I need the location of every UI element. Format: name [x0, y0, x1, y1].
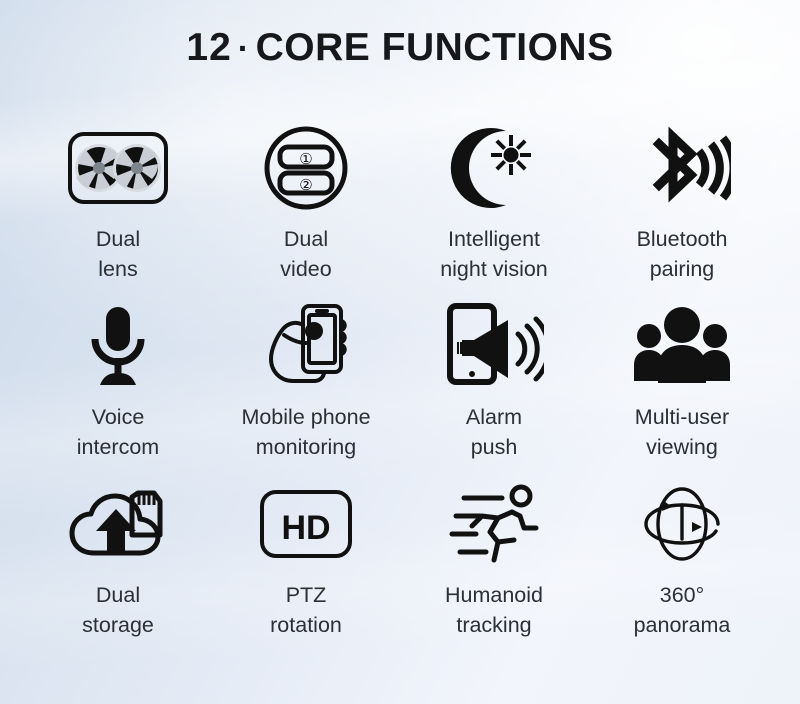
- feature-count: 12: [186, 26, 231, 69]
- feature-item-dual-lens: Dual lens: [24, 122, 212, 300]
- alarm-push-icon: [400, 300, 588, 392]
- feature-label: Dual storage: [82, 580, 154, 640]
- cloud-sd-storage-icon: [24, 478, 212, 570]
- feature-label: Voice intercom: [77, 402, 159, 462]
- feature-label: Dual video: [280, 224, 331, 284]
- multi-user-icon: [588, 300, 776, 392]
- feature-item-dual-video: ① ② Dual video: [212, 122, 400, 300]
- title-text: CORE FUNCTIONS: [256, 26, 614, 69]
- feature-item-humanoid-tracking: Humanoid tracking: [400, 478, 588, 656]
- feature-label: Bluetooth pairing: [637, 224, 728, 284]
- hd-badge-label: HD: [281, 509, 330, 547]
- night-vision-icon: [400, 122, 588, 214]
- feature-item-night-vision: Intelligent night vision: [400, 122, 588, 300]
- feature-item-mobile-monitoring: Mobile phone monitoring: [212, 300, 400, 478]
- hd-badge-icon: HD: [212, 478, 400, 570]
- feature-item-360-panorama: 360° panorama: [588, 478, 776, 656]
- feature-label: Dual lens: [96, 224, 140, 284]
- feature-grid: Dual lens ① ② Dual video: [24, 122, 776, 656]
- feature-item-alarm-push: Alarm push: [400, 300, 588, 478]
- dual-lens-icon: [24, 122, 212, 214]
- page-title: 12·CORE FUNCTIONS: [0, 26, 800, 70]
- feature-label: Multi-user viewing: [635, 402, 729, 462]
- running-person-icon: [400, 478, 588, 570]
- feature-item-voice-intercom: Voice intercom: [24, 300, 212, 478]
- feature-label: 360° panorama: [634, 580, 731, 640]
- feature-label: Mobile phone monitoring: [241, 402, 370, 462]
- feature-item-multi-user: Multi-user viewing: [588, 300, 776, 478]
- title-separator: ·: [232, 30, 256, 68]
- feature-item-ptz-rotation: HD PTZ rotation: [212, 478, 400, 656]
- feature-label: Alarm push: [466, 402, 522, 462]
- feature-item-dual-storage: Dual storage: [24, 478, 212, 656]
- phone-in-hand-icon: [212, 300, 400, 392]
- dual-video-second-label: ②: [299, 177, 312, 194]
- feature-label: Humanoid tracking: [445, 580, 543, 640]
- feature-label: PTZ rotation: [270, 580, 342, 640]
- dual-video-first-label: ①: [299, 151, 312, 168]
- feature-poster: 12·CORE FUNCTIONS: [0, 0, 800, 704]
- bluetooth-icon: [588, 122, 776, 214]
- panorama-360-icon: [588, 478, 776, 570]
- microphone-icon: [24, 300, 212, 392]
- dual-video-icon: ① ②: [212, 122, 400, 214]
- feature-label: Intelligent night vision: [440, 224, 548, 284]
- feature-item-bluetooth: Bluetooth pairing: [588, 122, 776, 300]
